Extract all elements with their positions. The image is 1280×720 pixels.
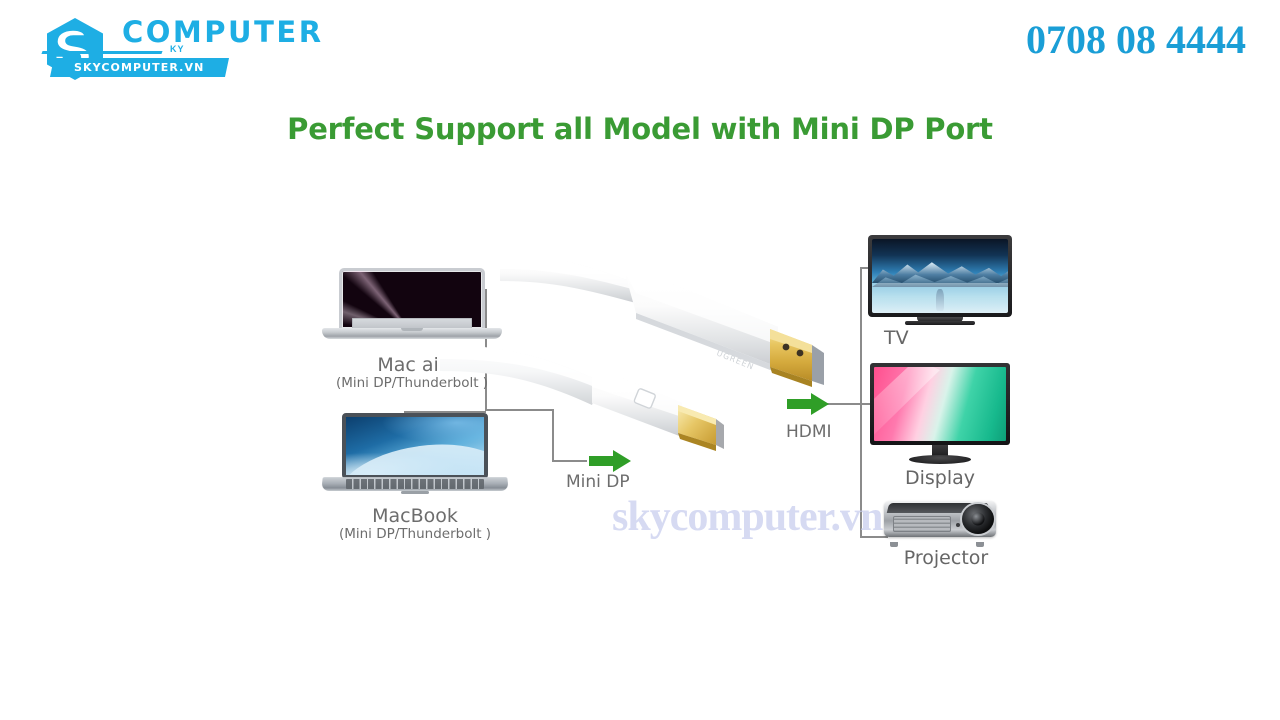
page-header: COMPUTER KY SKYCOMPUTER.VN 0708 08 4444: [0, 0, 1280, 95]
connector-label-mini-dp: Mini DP: [566, 472, 630, 492]
output-label-display: Display: [870, 467, 1010, 489]
display-screen: [874, 367, 1006, 441]
computer-monitor-icon: [870, 363, 1010, 445]
contact-phone-number[interactable]: 0708 08 4444: [1026, 16, 1246, 63]
projector-lens-inner: [972, 513, 985, 526]
tv-figure: [936, 289, 944, 311]
output-device-projector[interactable]: Projector: [884, 495, 1008, 553]
display-wallpaper-swoosh: [874, 367, 981, 441]
source-label-macbook: MacBook: [322, 505, 508, 527]
brand-name-text: COMPUTER: [122, 18, 324, 47]
projector-lens: [962, 504, 994, 534]
brand-logo[interactable]: COMPUTER KY SKYCOMPUTER.VN: [42, 14, 312, 84]
product-diagram-page: COMPUTER KY SKYCOMPUTER.VN 0708 08 4444 …: [0, 0, 1280, 720]
macair-front-notch: [401, 328, 423, 331]
source-sublabel-macbook: (Mini DP/Thunderbolt ): [322, 526, 508, 542]
brand-divider-rule: [41, 51, 162, 54]
green-right-arrow-icon-hdmi: [785, 392, 831, 416]
site-watermark: skycomputer.vn: [612, 493, 882, 541]
projector-indicator-dot: [956, 523, 960, 527]
projector-vent-grille: [893, 516, 951, 532]
brand-domain-text: SKYCOMPUTER.VN: [74, 61, 204, 74]
television-icon: [868, 235, 1012, 317]
brand-ky-text: KY: [170, 44, 185, 54]
output-label-tv: TV: [884, 327, 909, 349]
display-stand-base: [909, 455, 971, 464]
macbook-trackpad: [401, 491, 429, 494]
page-title: Perfect Support all Model with Mini DP P…: [0, 112, 1280, 146]
connector-label-hdmi: HDMI: [786, 422, 832, 442]
output-device-tv[interactable]: TV: [868, 235, 1012, 333]
tv-stand-foot: [905, 321, 975, 325]
brand-wordmark: COMPUTER: [122, 18, 324, 47]
tv-screen: [872, 239, 1008, 313]
green-right-arrow-icon-minidp: [587, 449, 633, 473]
connection-diagram: skycomputer.vn Mac air (Mini DP/Thunderb…: [0, 175, 1280, 625]
output-label-projector: Projector: [884, 547, 1008, 569]
brand-domain-banner: SKYCOMPUTER.VN: [50, 58, 229, 77]
bracket-line-right-vertical: [860, 267, 862, 537]
output-device-display[interactable]: Display: [870, 363, 1010, 467]
